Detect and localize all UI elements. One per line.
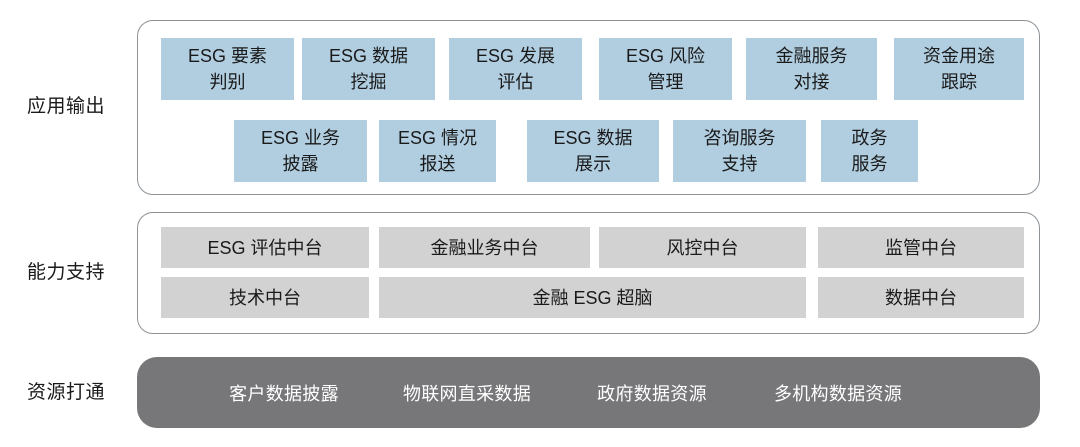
cell-label: ESG 评估中台: [161, 235, 369, 261]
cap-cell-risk-control-platform[interactable]: 风控中台: [599, 227, 806, 268]
cell-label: 金融 ESG 超脑: [379, 285, 806, 311]
cell-label: 金融业务中台: [379, 235, 590, 261]
capability-tier-container: ESG 评估中台 金融业务中台 风控中台 监管中台 技术中台 金融 ESG 超脑…: [137, 212, 1040, 334]
cell-label: 资金用途 跟踪: [894, 43, 1024, 95]
cell-label: ESG 数据 展示: [527, 125, 659, 177]
app-cell-fund-usage-tracking[interactable]: 资金用途 跟踪: [894, 38, 1024, 100]
cell-label: ESG 发展 评估: [449, 43, 582, 95]
cell-label: ESG 风险 管理: [599, 43, 732, 95]
app-cell-financial-service-docking[interactable]: 金融服务 对接: [746, 38, 877, 100]
cell-label: 政务 服务: [821, 125, 918, 177]
cap-cell-regulatory-platform[interactable]: 监管中台: [818, 227, 1024, 268]
cap-cell-technology-platform[interactable]: 技术中台: [161, 277, 369, 318]
cell-label: 咨询服务 支持: [673, 125, 806, 177]
app-cell-esg-element-identification[interactable]: ESG 要素 判别: [161, 38, 294, 100]
cell-label: 数据中台: [818, 285, 1024, 311]
tier-label-application: 应用输出: [2, 95, 130, 119]
res-item-label: 物联网直采数据: [403, 380, 531, 406]
cap-cell-esg-assessment-platform[interactable]: ESG 评估中台: [161, 227, 369, 268]
res-item-label: 政府数据资源: [597, 380, 707, 406]
app-cell-esg-business-disclosure[interactable]: ESG 业务 披露: [234, 120, 367, 182]
res-item-multi-institution-data-resources[interactable]: 多机构数据资源: [754, 357, 922, 428]
cap-cell-financial-esg-superbrain[interactable]: 金融 ESG 超脑: [379, 277, 806, 318]
tier-label-resource: 资源打通: [2, 381, 130, 405]
cell-label: 监管中台: [818, 235, 1024, 261]
res-item-iot-direct-collection-data[interactable]: 物联网直采数据: [383, 357, 551, 428]
tier-label-capability: 能力支持: [2, 261, 130, 285]
cell-label: ESG 数据 挖掘: [302, 43, 435, 95]
cell-label: 风控中台: [599, 235, 806, 261]
app-cell-esg-development-assessment[interactable]: ESG 发展 评估: [449, 38, 582, 100]
app-cell-esg-data-display[interactable]: ESG 数据 展示: [527, 120, 659, 182]
cap-cell-financial-business-platform[interactable]: 金融业务中台: [379, 227, 590, 268]
res-item-customer-data-disclosure[interactable]: 客户数据披露: [209, 357, 359, 428]
app-cell-esg-situation-reporting[interactable]: ESG 情况 报送: [379, 120, 496, 182]
application-tier-container: ESG 要素 判别 ESG 数据 挖掘 ESG 发展 评估 ESG 风险 管理 …: [137, 20, 1040, 195]
cell-label: ESG 要素 判别: [161, 43, 294, 95]
app-cell-consulting-service-support[interactable]: 咨询服务 支持: [673, 120, 806, 182]
res-item-label: 客户数据披露: [229, 380, 339, 406]
res-item-government-data-resources[interactable]: 政府数据资源: [577, 357, 727, 428]
cell-label: 金融服务 对接: [746, 43, 877, 95]
cell-label: ESG 业务 披露: [234, 125, 367, 177]
architecture-diagram: 应用输出 ESG 要素 判别 ESG 数据 挖掘 ESG 发展 评估 ESG 风…: [0, 0, 1080, 447]
cap-cell-data-platform[interactable]: 数据中台: [818, 277, 1024, 318]
cell-label: ESG 情况 报送: [379, 125, 496, 177]
res-item-label: 多机构数据资源: [774, 380, 902, 406]
app-cell-esg-data-mining[interactable]: ESG 数据 挖掘: [302, 38, 435, 100]
app-cell-esg-risk-management[interactable]: ESG 风险 管理: [599, 38, 732, 100]
app-cell-government-affairs-service[interactable]: 政务 服务: [821, 120, 918, 182]
cell-label: 技术中台: [161, 285, 369, 311]
resource-tier-bar: 客户数据披露 物联网直采数据 政府数据资源 多机构数据资源: [137, 357, 1040, 428]
